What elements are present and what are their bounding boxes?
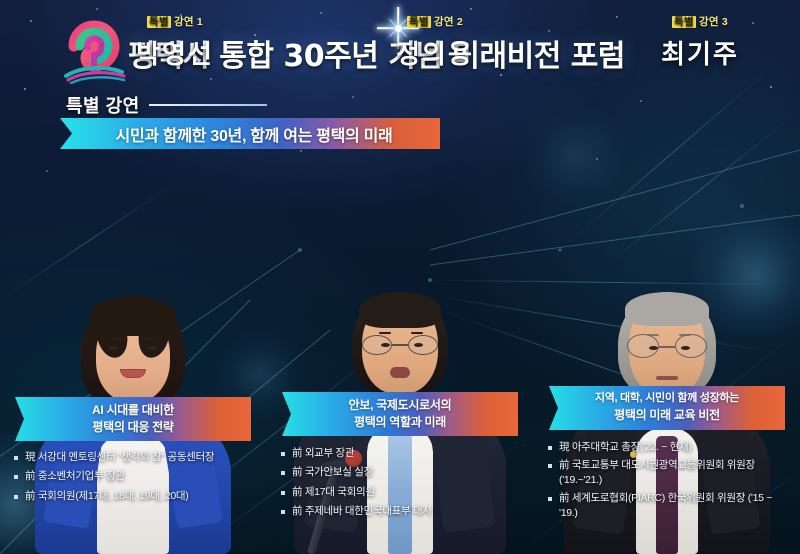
- speaker-2-topic-line2: 평택의 역할과 미래: [354, 414, 446, 431]
- speaker-1-topic-line2: 평택의 대응 전략: [92, 419, 173, 436]
- bullet-square-icon: [281, 471, 285, 475]
- speaker-2-lecture-tag: 특별 강연 2: [360, 14, 510, 29]
- speaker-3-tag-prefix: 특별: [672, 16, 696, 28]
- list-item: 前 국가안보실 실장: [281, 465, 525, 479]
- speaker-1-lecture-tag: 특별 강연 1: [100, 14, 250, 29]
- special-lecture-heading: 특별 강연: [66, 92, 267, 118]
- speaker-3-bio-2: 前 세계도로협회(PIARC) 한국위원회 위원장 ('15 ~ '19.): [559, 491, 792, 520]
- speaker-1-topic-banner: AI 시대를 대비한 평택의 대응 전략: [15, 397, 251, 441]
- speaker-1-bio-1: 前 중소벤처기업부 장관: [25, 469, 125, 483]
- speaker-2-nametag: 특별 강연 2 정의용: [360, 14, 510, 71]
- speaker-2-bio-1: 前 국가안보실 실장: [292, 465, 373, 479]
- speaker-card-3: 지역, 대학, 시민이 함께 성장하는 평택의 미래 교육 비전 現 아주대학교…: [534, 160, 800, 554]
- list-item: 現 서강대 멘토링센터 "생각의 창" 공동센터장: [14, 450, 258, 464]
- speaker-2-tag-prefix: 특별: [407, 16, 431, 28]
- speaker-3-topic-banner: 지역, 대학, 시민이 함께 성장하는 평택의 미래 교육 비전: [549, 386, 785, 430]
- bullet-square-icon: [548, 464, 552, 468]
- subtitle-ribbon: 시민과 함께한 30년, 함께 여는 평택의 미래: [60, 118, 440, 149]
- speaker-1-bio-list: 現 서강대 멘토링센터 "생각의 창" 공동센터장 前 중소벤처기업부 장관 前…: [14, 450, 258, 508]
- forum-poster: 평택시 통합 30주년 기념 미래비전 포럼 특별 강연 시민과 함께한 30년…: [0, 0, 800, 554]
- bullet-square-icon: [548, 497, 552, 501]
- list-item: 前 중소벤처기업부 장관: [14, 469, 258, 483]
- speaker-card-2: 안보, 국제도시로서의 평택의 역할과 미래 前 외교부 장관 前 국가안보실 …: [267, 160, 533, 554]
- list-item: 前 국토교통부 대도시권광역교통위원회 위원장 ('19.~'21.): [548, 458, 792, 487]
- speaker-1-bio-2: 前 국회의원(제17대, 18대, 19대, 20대): [25, 489, 188, 503]
- bullet-square-icon: [281, 491, 285, 495]
- bullet-square-icon: [281, 452, 285, 456]
- list-item: 前 국회의원(제17대, 18대, 19대, 20대): [14, 489, 258, 503]
- list-item: 現 아주대학교 총장('22. ~ 현재): [548, 440, 792, 454]
- speaker-3-nametag: 특별 강연 3 최기주: [625, 14, 775, 71]
- speaker-3-bio-list: 現 아주대학교 총장('22. ~ 현재) 前 국토교통부 대도시권광역교통위원…: [548, 440, 792, 524]
- speaker-2-bio-3: 前 주제네바 대한민국대표부 대사: [292, 504, 432, 518]
- speaker-3-tag-suffix: 강연 3: [699, 16, 728, 28]
- speaker-1-tag-prefix: 특별: [147, 16, 171, 28]
- bullet-square-icon: [14, 456, 18, 460]
- bullet-square-icon: [281, 510, 285, 514]
- special-lecture-label: 특별 강연: [66, 92, 140, 118]
- speaker-3-lecture-tag: 특별 강연 3: [625, 14, 775, 29]
- speaker-card-1: AI 시대를 대비한 평택의 대응 전략 現 서강대 멘토링센터 "생각의 창"…: [0, 160, 266, 554]
- speaker-2-tag-suffix: 강연 2: [434, 16, 463, 28]
- speaker-1-tag-suffix: 강연 1: [174, 16, 203, 28]
- list-item: 前 주제네바 대한민국대표부 대사: [281, 504, 525, 518]
- speaker-2-bio-0: 前 외교부 장관: [292, 446, 354, 460]
- list-item: 前 제17대 국회의원: [281, 485, 525, 499]
- list-item: 前 외교부 장관: [281, 446, 525, 460]
- speaker-2-glasses-icon: [361, 334, 439, 356]
- speaker-2-topic-line1: 안보, 국제도시로서의: [349, 397, 452, 414]
- bullet-square-icon: [14, 475, 18, 479]
- bullet-square-icon: [14, 495, 18, 499]
- speaker-2-bio-list: 前 외교부 장관 前 국가안보실 실장 前 제17대 국회의원 前 주제네바 대…: [281, 446, 525, 524]
- speaker-2-name: 정의용: [360, 34, 510, 71]
- speaker-3-glasses-icon: [627, 334, 707, 360]
- speaker-1-name: 박영선: [100, 34, 250, 71]
- speaker-2-topic-banner: 안보, 국제도시로서의 평택의 역할과 미래: [282, 392, 518, 436]
- list-item: 前 세계도로협회(PIARC) 한국위원회 위원장 ('15 ~ '19.): [548, 491, 792, 520]
- heading-divider: [149, 104, 267, 106]
- speaker-3-topic-line2: 평택의 미래 교육 비전: [614, 407, 720, 424]
- bullet-square-icon: [548, 446, 552, 450]
- speaker-2-bio-2: 前 제17대 국회의원: [292, 485, 375, 499]
- speaker-3-bio-1: 前 국토교통부 대도시권광역교통위원회 위원장 ('19.~'21.): [559, 458, 792, 487]
- subtitle-ribbon-text: 시민과 함께한 30년, 함께 여는 평택의 미래: [108, 122, 393, 146]
- speaker-1-bio-0: 現 서강대 멘토링센터 "생각의 창" 공동센터장: [25, 450, 214, 464]
- speaker-3-topic-line1: 지역, 대학, 시민이 함께 성장하는: [595, 391, 739, 407]
- speaker-3-bio-0: 現 아주대학교 총장('22. ~ 현재): [559, 440, 692, 454]
- speaker-1-topic-line1: AI 시대를 대비한: [92, 402, 174, 419]
- speaker-3-mouth: [656, 376, 678, 380]
- speaker-1-nametag: 특별 강연 1 박영선: [100, 14, 250, 71]
- speaker-2-mouth: [390, 367, 410, 378]
- speaker-3-name: 최기주: [625, 34, 775, 71]
